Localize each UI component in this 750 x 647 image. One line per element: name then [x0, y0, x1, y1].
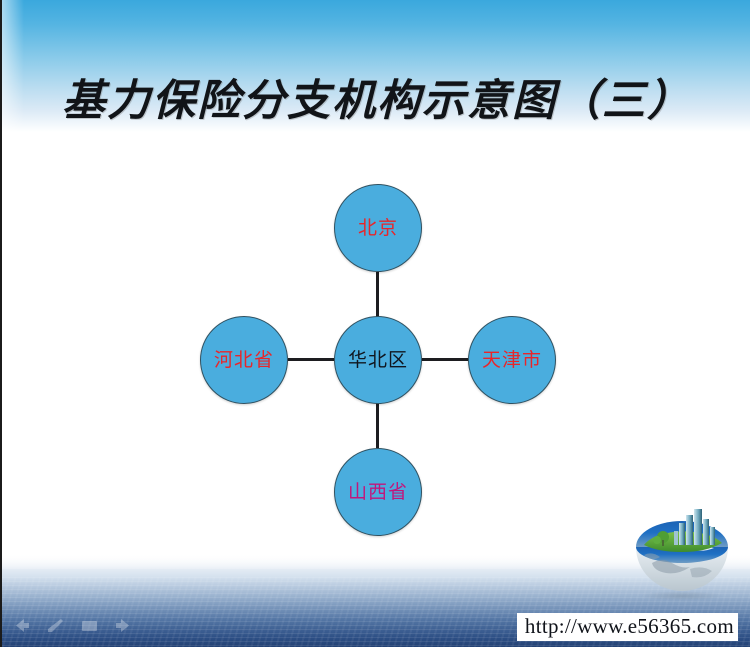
node-west[interactable]: 河北省	[200, 316, 288, 404]
presentation-slide: 基力保险分支机构示意图（三） 北京 河北省 华北区 天津市 山西省	[0, 0, 750, 647]
connector-center-to-north	[376, 272, 379, 318]
node-north-label: 北京	[358, 219, 398, 238]
node-east[interactable]: 天津市	[468, 316, 556, 404]
forward-arrow-icon[interactable]	[114, 618, 133, 633]
node-east-label: 天津市	[482, 351, 542, 370]
connector-center-to-east	[422, 358, 468, 361]
connector-center-to-west	[288, 358, 334, 361]
node-center-label: 华北区	[348, 351, 408, 370]
connector-center-to-south	[376, 402, 379, 448]
globe-city-icon	[630, 507, 734, 599]
globe-shadow	[640, 591, 724, 601]
node-south-label: 山西省	[348, 483, 408, 502]
node-center[interactable]: 华北区	[334, 316, 422, 404]
node-south[interactable]: 山西省	[334, 448, 422, 536]
slideshow-nav-bar[interactable]	[12, 618, 133, 633]
menu-icon[interactable]	[80, 618, 99, 633]
node-north[interactable]: 北京	[334, 184, 422, 272]
back-arrow-icon[interactable]	[12, 618, 31, 633]
watermark-url: http://www.e56365.com	[517, 613, 738, 641]
pen-icon[interactable]	[46, 618, 65, 633]
node-west-label: 河北省	[214, 351, 274, 370]
